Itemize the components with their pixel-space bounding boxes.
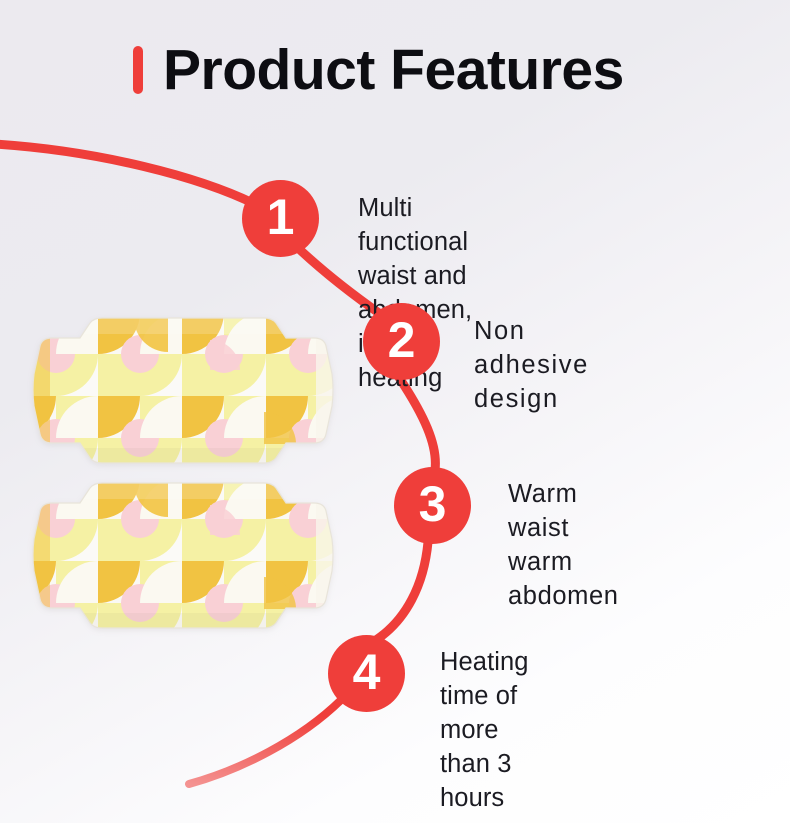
product-image-top [14,312,352,469]
product-image-bottom [14,477,352,634]
step-badge-4[interactable]: 4 [328,635,405,712]
product-features-poster: Product Features [0,0,790,823]
page-title: Product Features [163,32,624,108]
title-accent-bar [133,46,143,94]
feature-text-4: Heating time of more than 3 hours [440,645,529,815]
poster-header: Product Features [0,0,790,132]
step-badge-1[interactable]: 1 [242,180,319,257]
feature-text-3: Warm waist warm abdomen [508,477,619,613]
step-badge-2[interactable]: 2 [363,303,440,380]
step-badge-3[interactable]: 3 [394,467,471,544]
feature-text-2: Non adhesive design [474,314,589,416]
